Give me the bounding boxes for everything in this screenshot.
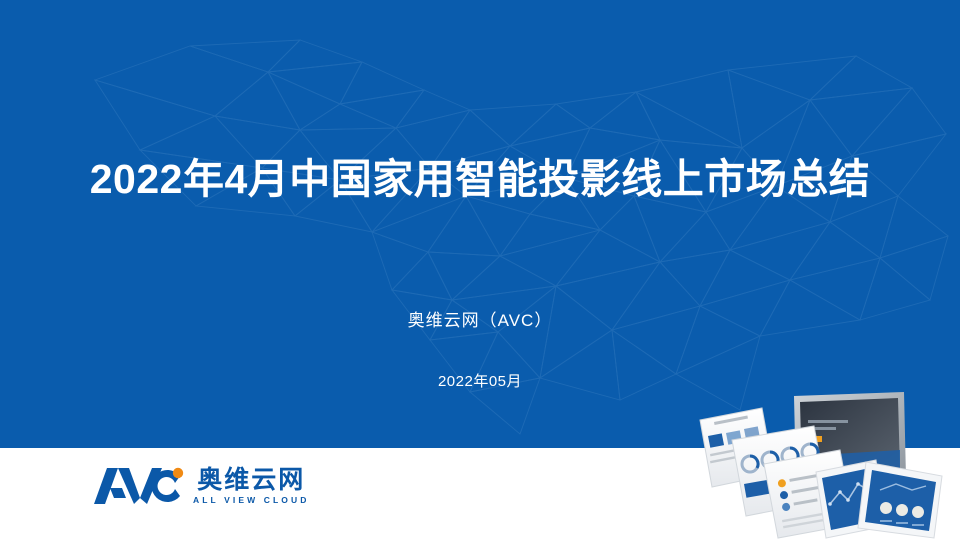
organization-name: 奥维云网（AVC） [0, 306, 960, 331]
avc-logo-chinese: 奥维云网 [197, 467, 305, 492]
avc-letters-icon [92, 466, 184, 506]
device-collage-illustration [690, 392, 960, 540]
avc-logo: 奥维云网 ALL VIEW CLOUD [92, 466, 309, 506]
title-slide: 2022年4月中国家用智能投影线上市场总结 奥维云网（AVC） 2022年05月… [0, 0, 960, 540]
avc-orange-dot-icon [173, 468, 183, 478]
page-title: 2022年4月中国家用智能投影线上市场总结 [0, 155, 960, 203]
tablet-right-icon [858, 462, 942, 538]
avc-logo-english: ALL VIEW CLOUD [193, 496, 309, 505]
avc-logo-wordmark: 奥维云网 ALL VIEW CLOUD [193, 467, 309, 505]
slide-background: 2022年4月中国家用智能投影线上市场总结 奥维云网（AVC） 2022年05月 [0, 0, 960, 448]
publication-date: 2022年05月 [0, 370, 960, 391]
avc-logo-mark-icon [92, 466, 184, 506]
